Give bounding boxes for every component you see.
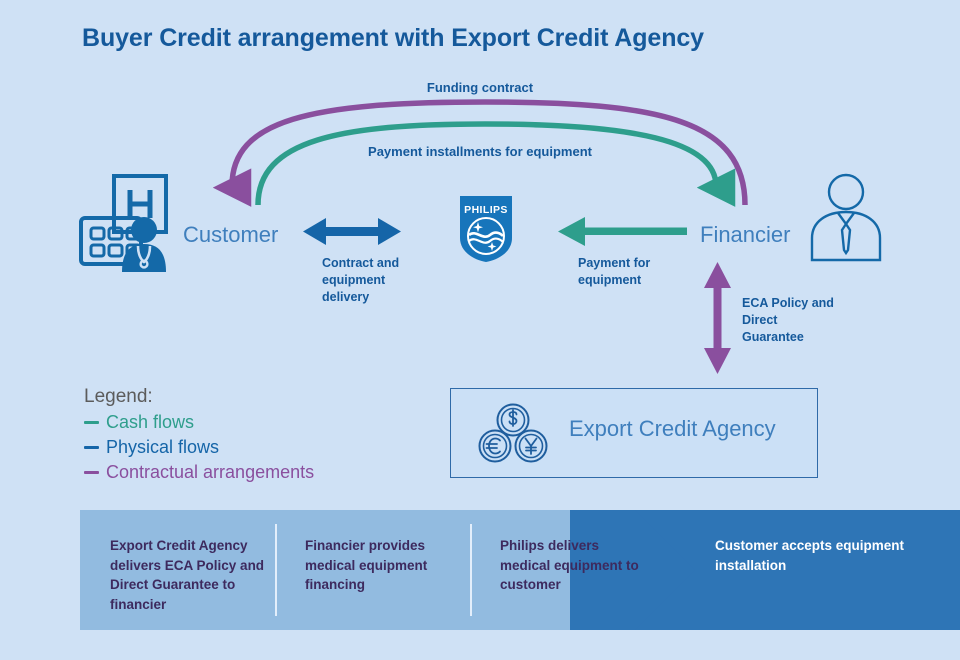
svg-text:PHILIPS: PHILIPS [464,204,508,216]
node-label-financier: Financier [700,222,790,248]
legend: Legend: Cash flows Physical flows Contra… [84,386,404,485]
currency-coins-icon [475,403,551,465]
hospital-doctor-icon [78,172,180,272]
legend-label-cash: Cash flows [106,412,194,433]
eca-policy-caption: ECA Policy and Direct Guarantee [742,295,842,346]
philips-shield-icon: PHILIPS [458,194,514,264]
legend-title: Legend: [84,386,404,408]
eca-policy-arrow [704,262,731,374]
process-step-1-text: Export Credit Agency delivers ECA Policy… [110,538,264,612]
legend-dash-cash [84,421,99,425]
process-step-4: Customer accepts equipment installation [715,536,915,575]
payment-installments-label: Payment installments for equipment [0,144,960,159]
legend-label-physical: Physical flows [106,437,219,458]
businessman-icon [808,172,884,262]
payment-installments-curve [258,124,716,205]
process-steps-bar: Export Credit Agency delivers ECA Policy… [80,510,880,630]
legend-label-contractual: Contractual arrangements [106,462,314,483]
legend-dash-contractual [84,471,99,475]
legend-item-contractual: Contractual arrangements [84,460,404,485]
process-step-2-text: Financier provides medical equipment fin… [305,538,427,592]
legend-item-cash-flows: Cash flows [84,410,404,435]
process-step-2: Financier provides medical equipment fin… [275,510,475,630]
export-credit-agency-box: Export Credit Agency [450,388,818,478]
contract-equipment-caption: Contract and equipment delivery [322,255,432,306]
legend-item-physical-flows: Physical flows [84,435,404,460]
process-step-4-text: Customer accepts equipment installation [715,538,904,573]
process-step-3: Philips delivers medical equipment to cu… [470,510,660,630]
payment-equipment-caption: Payment for equipment [578,255,688,289]
process-step-1: Export Credit Agency delivers ECA Policy… [80,510,290,630]
page-title: Buyer Credit arrangement with Export Cre… [82,24,704,53]
node-label-customer: Customer [183,222,278,248]
export-credit-agency-label: Export Credit Agency [569,416,776,442]
funding-contract-label: Funding contract [0,80,960,95]
process-step-3-text: Philips delivers medical equipment to cu… [500,538,639,592]
legend-dash-physical [84,446,99,450]
contract-equipment-arrow [303,218,401,245]
payment-equipment-arrow [558,217,687,246]
